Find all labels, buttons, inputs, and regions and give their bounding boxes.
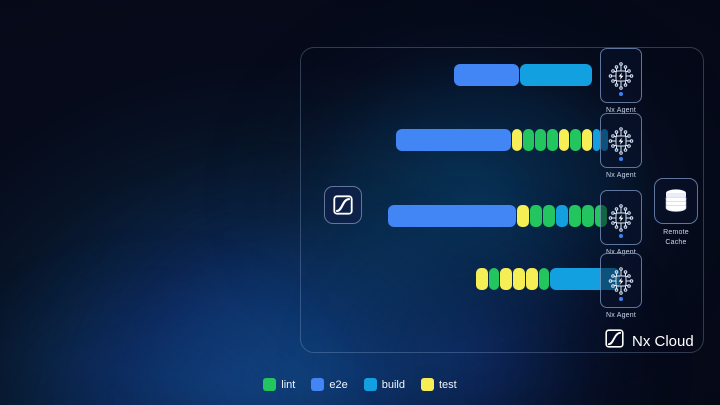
legend-swatch-build	[364, 378, 377, 391]
timeline-row	[454, 64, 593, 86]
task-segment-lint[interactable]	[570, 129, 581, 151]
cpu-chip-bolt-icon	[600, 253, 642, 308]
nx-agent[interactable]: Nx Agent	[600, 113, 642, 179]
task-segment-test[interactable]	[582, 129, 592, 151]
legend-swatch-test	[421, 378, 434, 391]
task-segment-build[interactable]	[520, 64, 592, 86]
task-segment-test[interactable]	[526, 268, 538, 290]
nx-logo-icon	[324, 186, 362, 224]
legend-item-e2e: e2e	[311, 378, 347, 391]
task-segment-lint[interactable]	[489, 268, 499, 290]
legend-swatch-e2e	[311, 378, 324, 391]
task-segment-e2e[interactable]	[396, 129, 511, 151]
remote-cache[interactable]: Remote Cache	[654, 178, 698, 248]
legend-item-build: build	[364, 378, 405, 391]
nx-agent-label: Nx Agent	[606, 312, 636, 319]
task-segment-lint[interactable]	[530, 205, 542, 227]
cpu-chip-bolt-icon	[600, 190, 642, 245]
legend-swatch-lint	[263, 378, 276, 391]
database-stack-icon	[654, 178, 698, 224]
task-segment-lint[interactable]	[535, 129, 546, 151]
remote-cache-label-line1: Remote	[663, 228, 689, 238]
cpu-chip-bolt-icon	[600, 48, 642, 103]
task-segment-lint[interactable]	[539, 268, 549, 290]
timeline-row	[396, 129, 609, 151]
nx-cloud-brand: Nx Cloud	[604, 328, 694, 354]
task-segment-build[interactable]	[556, 205, 568, 227]
task-segment-lint[interactable]	[523, 129, 534, 151]
nx-agent[interactable]: Nx Agent	[600, 253, 642, 319]
legend-label-e2e: e2e	[329, 379, 347, 391]
task-segment-test[interactable]	[513, 268, 525, 290]
cpu-chip-bolt-icon	[600, 113, 642, 168]
task-segment-lint[interactable]	[582, 205, 594, 227]
legend-item-lint: lint	[263, 378, 295, 391]
task-segment-test[interactable]	[476, 268, 488, 290]
legend-label-lint: lint	[281, 379, 295, 391]
task-segment-e2e[interactable]	[388, 205, 516, 227]
legend: linte2ebuildtest	[0, 378, 720, 391]
nx-agent-label: Nx Agent	[606, 172, 636, 179]
legend-item-test: test	[421, 378, 457, 391]
nx-agent[interactable]: Nx Agent	[600, 48, 642, 114]
task-segment-lint[interactable]	[543, 205, 555, 227]
nx-logo-icon	[604, 328, 625, 354]
legend-label-test: test	[439, 379, 457, 391]
task-segment-lint[interactable]	[547, 129, 558, 151]
task-segment-test[interactable]	[512, 129, 522, 151]
task-segment-lint[interactable]	[569, 205, 581, 227]
legend-label-build: build	[382, 379, 405, 391]
task-segment-test[interactable]	[559, 129, 569, 151]
task-segment-build[interactable]	[593, 129, 600, 151]
task-segment-e2e[interactable]	[454, 64, 519, 86]
task-segment-test[interactable]	[517, 205, 529, 227]
timeline-row	[388, 205, 608, 227]
nx-cloud-label: Nx Cloud	[632, 333, 694, 350]
nx-agent[interactable]: Nx Agent	[600, 190, 642, 256]
nx-cloud-diagram: Nx Agent Nx Agent Nx Agent	[0, 0, 720, 405]
task-segment-test[interactable]	[500, 268, 512, 290]
remote-cache-label-line2: Cache	[663, 238, 689, 248]
